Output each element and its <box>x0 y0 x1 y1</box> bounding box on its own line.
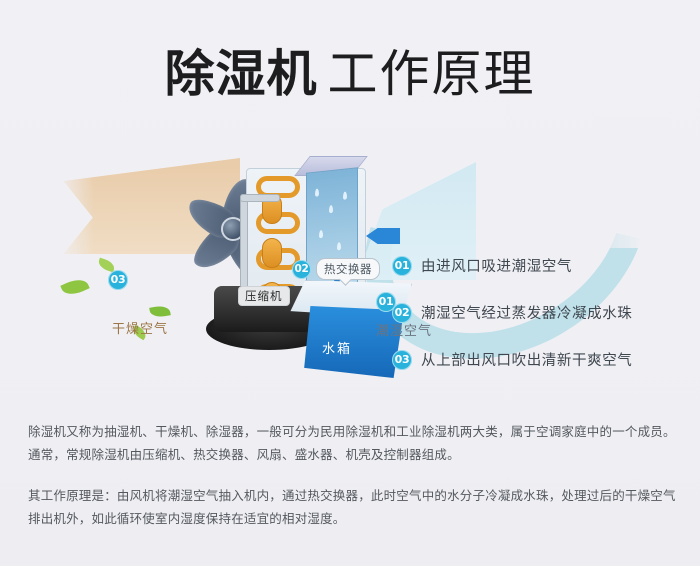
badge-03: 03 <box>108 270 128 290</box>
label-water-tank: 水箱 <box>322 338 352 357</box>
legend-item-01: 01 由进风口吸进潮湿空气 <box>392 255 672 276</box>
label-compressor: 压缩机 <box>238 286 290 306</box>
sweep-fade-overlay <box>560 118 670 248</box>
water-droplet-icon <box>315 188 319 196</box>
label-heat-exchanger: 02 热交换器 <box>292 258 380 280</box>
infographic-page: 除湿机工作原理 <box>0 0 700 566</box>
badge-02: 02 <box>292 260 311 279</box>
water-droplet-icon <box>329 205 333 213</box>
legend-item-label: 潮湿空气经过蒸发器冷凝成水珠 <box>421 302 632 323</box>
legend-item-label: 从上部出风口吹出清新干爽空气 <box>421 349 632 370</box>
description-section: 除湿机又称为抽湿机、干燥机、除湿器，一般可分为民用除湿机和工业除湿机两大类，属于… <box>28 420 676 530</box>
legend-list: 01 由进风口吸进潮湿空气 02 潮湿空气经过蒸发器冷凝成水珠 03 从上部出风… <box>392 255 672 396</box>
label-dry-air-badge: 03 <box>108 268 128 290</box>
water-droplet-icon <box>343 191 347 199</box>
paragraph-principle: 其工作原理是：由风机将潮湿空气抽入机内，通过热交换器，此时空气中的水分子冷凝成水… <box>28 484 676 530</box>
dry-air-band-fade <box>50 158 94 254</box>
title-primary: 除湿机 <box>165 45 318 103</box>
leaf-icon <box>60 275 89 298</box>
badge-03: 03 <box>392 350 412 370</box>
paragraph-definition: 除湿机又称为抽湿机、干燥机、除湿器，一般可分为民用除湿机和工业除湿机两大类，属于… <box>28 420 676 466</box>
badge-02: 02 <box>392 303 412 323</box>
leaf-icon <box>149 304 171 318</box>
legend-item-03: 03 从上部出风口吹出清新干爽空气 <box>392 349 672 370</box>
coil-canister <box>262 238 282 268</box>
water-droplet-icon <box>319 230 323 238</box>
title-secondary: 工作原理 <box>328 45 536 103</box>
page-title: 除湿机工作原理 <box>0 34 700 106</box>
refrigerant-pipe <box>240 194 280 202</box>
badge-01: 01 <box>392 256 412 276</box>
label-dry-air-text: 干燥空气 <box>112 318 168 337</box>
legend-item-label: 由进风口吸进潮湿空气 <box>421 255 572 276</box>
heat-exchanger-callout: 热交换器 <box>316 258 380 280</box>
water-droplet-icon <box>337 242 341 250</box>
legend-item-02: 02 潮湿空气经过蒸发器冷凝成水珠 <box>392 302 672 323</box>
